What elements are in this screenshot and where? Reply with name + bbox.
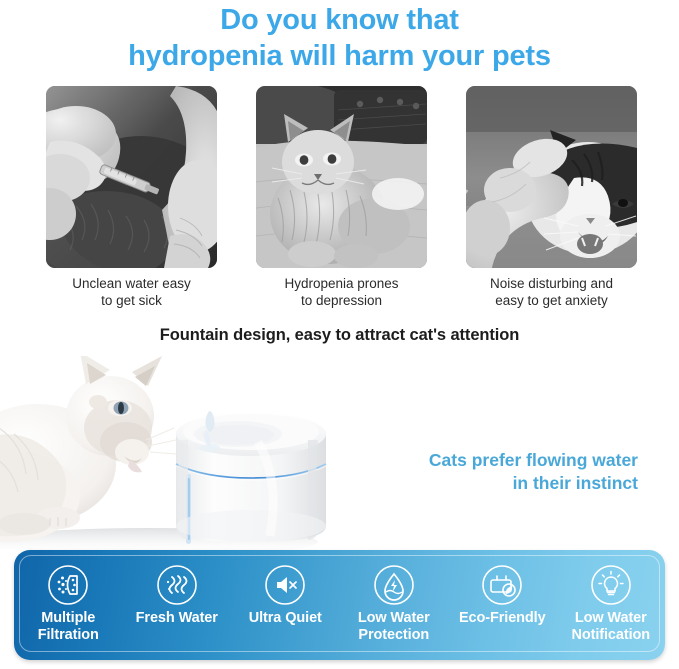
- feature-low-water-notification[interactable]: Low Water Notification: [557, 564, 666, 644]
- page-headline: Do you know that hydropenia will harm yo…: [0, 2, 679, 74]
- photo-fluffy-cat-lying-on-bed: [256, 86, 427, 268]
- feature-label-line-2: Notification: [557, 627, 666, 644]
- caption-line-1: Hydropenia prones: [256, 275, 427, 292]
- feature-label-line-1: Low Water: [557, 610, 666, 627]
- feature-label-line-1: Eco-Friendly: [448, 610, 557, 627]
- feature-label-line-2: Protection: [340, 627, 449, 644]
- caption-line-2: easy to get anxiety: [466, 292, 637, 309]
- feature-label: Fresh Water: [123, 610, 232, 627]
- feature-list: Multiple Filtration: [14, 550, 665, 660]
- headline-line-2: hydropenia will harm your pets: [0, 38, 679, 74]
- feature-fresh-water[interactable]: Fresh Water: [123, 564, 232, 627]
- feature-eco-friendly[interactable]: Eco-Friendly: [448, 564, 557, 627]
- low-water-protection-icon: [373, 564, 415, 606]
- feature-label-line-1: Multiple: [14, 610, 123, 627]
- feature-label-line-1: Low Water: [340, 610, 449, 627]
- feature-low-water-protection[interactable]: Low Water Protection: [340, 564, 449, 644]
- feature-multiple-filtration[interactable]: Multiple Filtration: [14, 564, 123, 644]
- feature-label: Ultra Quiet: [231, 610, 340, 627]
- feature-bar: Multiple Filtration: [14, 550, 665, 660]
- feature-label: Low Water Protection: [340, 610, 449, 644]
- caption-line-1: Unclean water easy: [46, 275, 217, 292]
- photo-vet-injecting-cat: [46, 86, 217, 268]
- low-water-notification-icon: [590, 564, 632, 606]
- caption-line-2: to depression: [256, 292, 427, 309]
- multiple-filtration-icon: [47, 564, 89, 606]
- feature-label-line-1: Ultra Quiet: [231, 610, 340, 627]
- fresh-water-icon: [156, 564, 198, 606]
- card-caption: Unclean water easy to get sick: [46, 275, 217, 309]
- headline-line-1: Do you know that: [0, 2, 679, 38]
- caption-line-2: to get sick: [46, 292, 217, 309]
- ultra-quiet-icon: [264, 564, 306, 606]
- feature-label: Multiple Filtration: [14, 610, 123, 644]
- feature-label: Eco-Friendly: [448, 610, 557, 627]
- problem-cards: Unclean water easy to get sick: [46, 86, 637, 309]
- scene-tagline-line-2: in their instinct: [308, 472, 638, 495]
- card-caption: Hydropenia prones to depression: [256, 275, 427, 309]
- problem-card: Noise disturbing and easy to get anxiety: [466, 86, 637, 309]
- eco-friendly-icon: [481, 564, 523, 606]
- feature-label-line-1: Fresh Water: [123, 610, 232, 627]
- scene-tagline: Cats prefer flowing water in their insti…: [308, 449, 638, 495]
- card-caption: Noise disturbing and easy to get anxiety: [466, 275, 637, 309]
- feature-label-line-2: Filtration: [14, 627, 123, 644]
- feature-ultra-quiet[interactable]: Ultra Quiet: [231, 564, 340, 627]
- photo-hand-petting-anxious-cat: [466, 86, 637, 268]
- scene-tagline-line-1: Cats prefer flowing water: [308, 449, 638, 472]
- caption-line-1: Noise disturbing and: [466, 275, 637, 292]
- fountain-tagline: Fountain design, easy to attract cat's a…: [0, 326, 679, 345]
- problem-card: Hydropenia prones to depression: [256, 86, 427, 309]
- problem-card: Unclean water easy to get sick: [46, 86, 217, 309]
- feature-label: Low Water Notification: [557, 610, 666, 644]
